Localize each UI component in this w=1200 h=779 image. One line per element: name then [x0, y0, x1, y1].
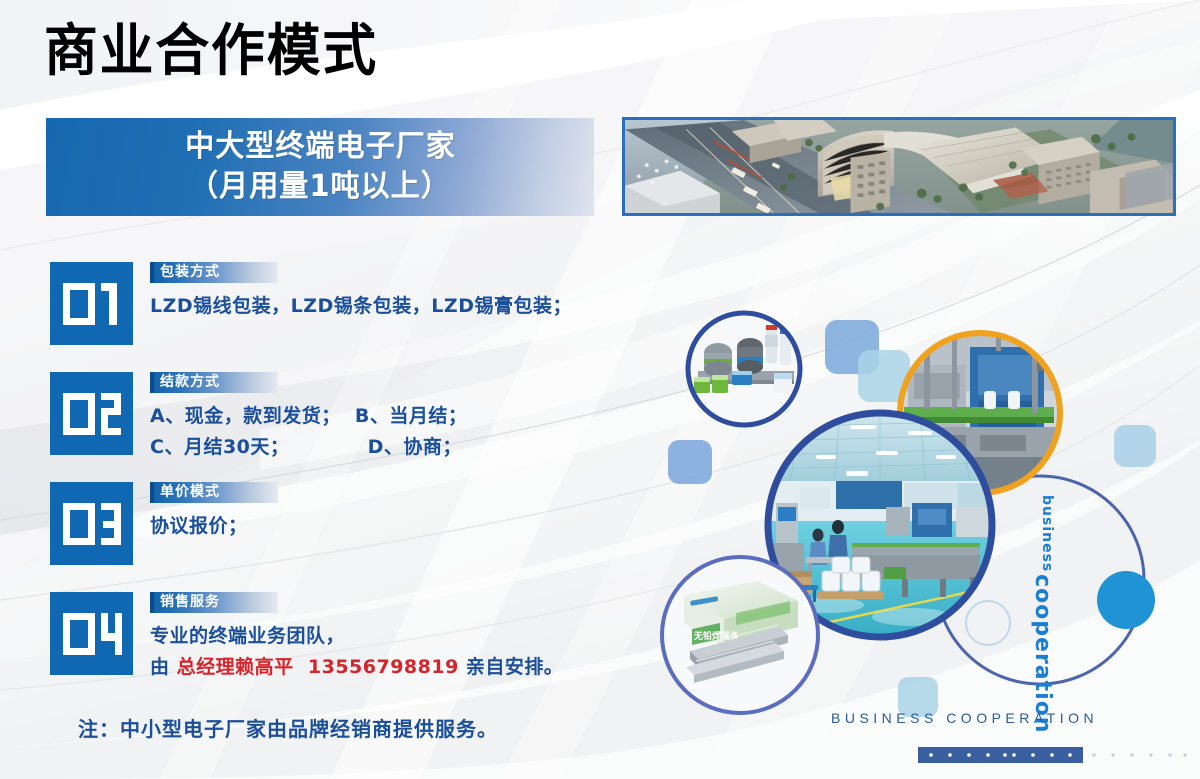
- page-title: 商业合作模式: [44, 24, 378, 80]
- deco-ring-small: [966, 601, 1010, 645]
- dot-bar-graphic: [918, 747, 1188, 763]
- digit-03-glyph: [61, 501, 123, 547]
- digit-04-glyph: [61, 611, 123, 657]
- vertical-business-cooperation: business cooperation: [1030, 495, 1055, 734]
- digit-02-glyph: [61, 391, 123, 437]
- contact-suffix: 亲自安排。: [459, 656, 564, 678]
- item-body-02: 结款方式 A、现金，款到发货； B、当月结； C、月结30天； D、协商；: [150, 372, 467, 463]
- item-contact-line: 由 总经理赖高平 13556798819 亲自安排。: [150, 653, 563, 682]
- item-tag-04: 销售服务: [150, 592, 278, 613]
- collage-graphic: 无铅焊锡条: [640, 295, 1200, 779]
- item-tag-03: 单价模式: [150, 482, 278, 503]
- item-body-03: 单价模式 协议报价；: [150, 482, 278, 541]
- contact-name: 总经理赖高平: [177, 656, 294, 678]
- item-tag-02: 结款方式: [150, 372, 278, 393]
- deco-square-3: [668, 440, 712, 484]
- header-bar-line-2: （月用量1吨以上）: [189, 167, 451, 207]
- item-body-04: 销售服务 专业的终端业务团队， 由 总经理赖高平 13556798819 亲自安…: [150, 592, 563, 683]
- dot-bar-decoration: [918, 747, 1188, 763]
- deco-square-4: [1114, 425, 1156, 467]
- number-box-03: [50, 482, 133, 565]
- item-tag-01: 包装方式: [150, 262, 278, 283]
- item-desc-02-line-0: A、现金，款到发货； B、当月结；: [150, 402, 467, 431]
- vertical-text-small: business: [1030, 495, 1055, 572]
- item-body-01: 包装方式 LZD锡线包装，LZD锡条包装，LZD锡膏包装；: [150, 262, 572, 321]
- number-box-02: [50, 372, 133, 455]
- section-header-bar: 中大型终端电子厂家 （月用量1吨以上）: [46, 118, 594, 216]
- deco-solid-dot: [1097, 571, 1155, 629]
- contact-phone: 13556798819: [308, 656, 459, 678]
- header-bar-line-1: 中大型终端电子厂家: [185, 127, 456, 167]
- item-desc-04-line-0: 专业的终端业务团队，: [150, 622, 563, 651]
- item-desc-03-line-0: 协议报价；: [150, 512, 278, 541]
- bottom-caption: BUSINESS COOPERATION: [831, 710, 1098, 726]
- digit-01-glyph: [61, 281, 123, 327]
- contact-gap: [294, 656, 308, 678]
- number-box-04: [50, 592, 133, 675]
- campus-building-photo: [622, 117, 1176, 216]
- photo-collage: 无铅焊锡条: [640, 295, 1200, 779]
- footer-note: 注：中小型电子厂家由品牌经销商提供服务。: [78, 713, 498, 742]
- item-desc-02-line-1: C、月结30天； D、协商；: [150, 433, 467, 462]
- aerial-campus-illustration: [625, 120, 1173, 213]
- item-desc-01-line-0: LZD锡线包装，LZD锡条包装，LZD锡膏包装；: [150, 292, 572, 321]
- number-box-01: [50, 262, 133, 345]
- contact-prefix: 由: [150, 656, 177, 678]
